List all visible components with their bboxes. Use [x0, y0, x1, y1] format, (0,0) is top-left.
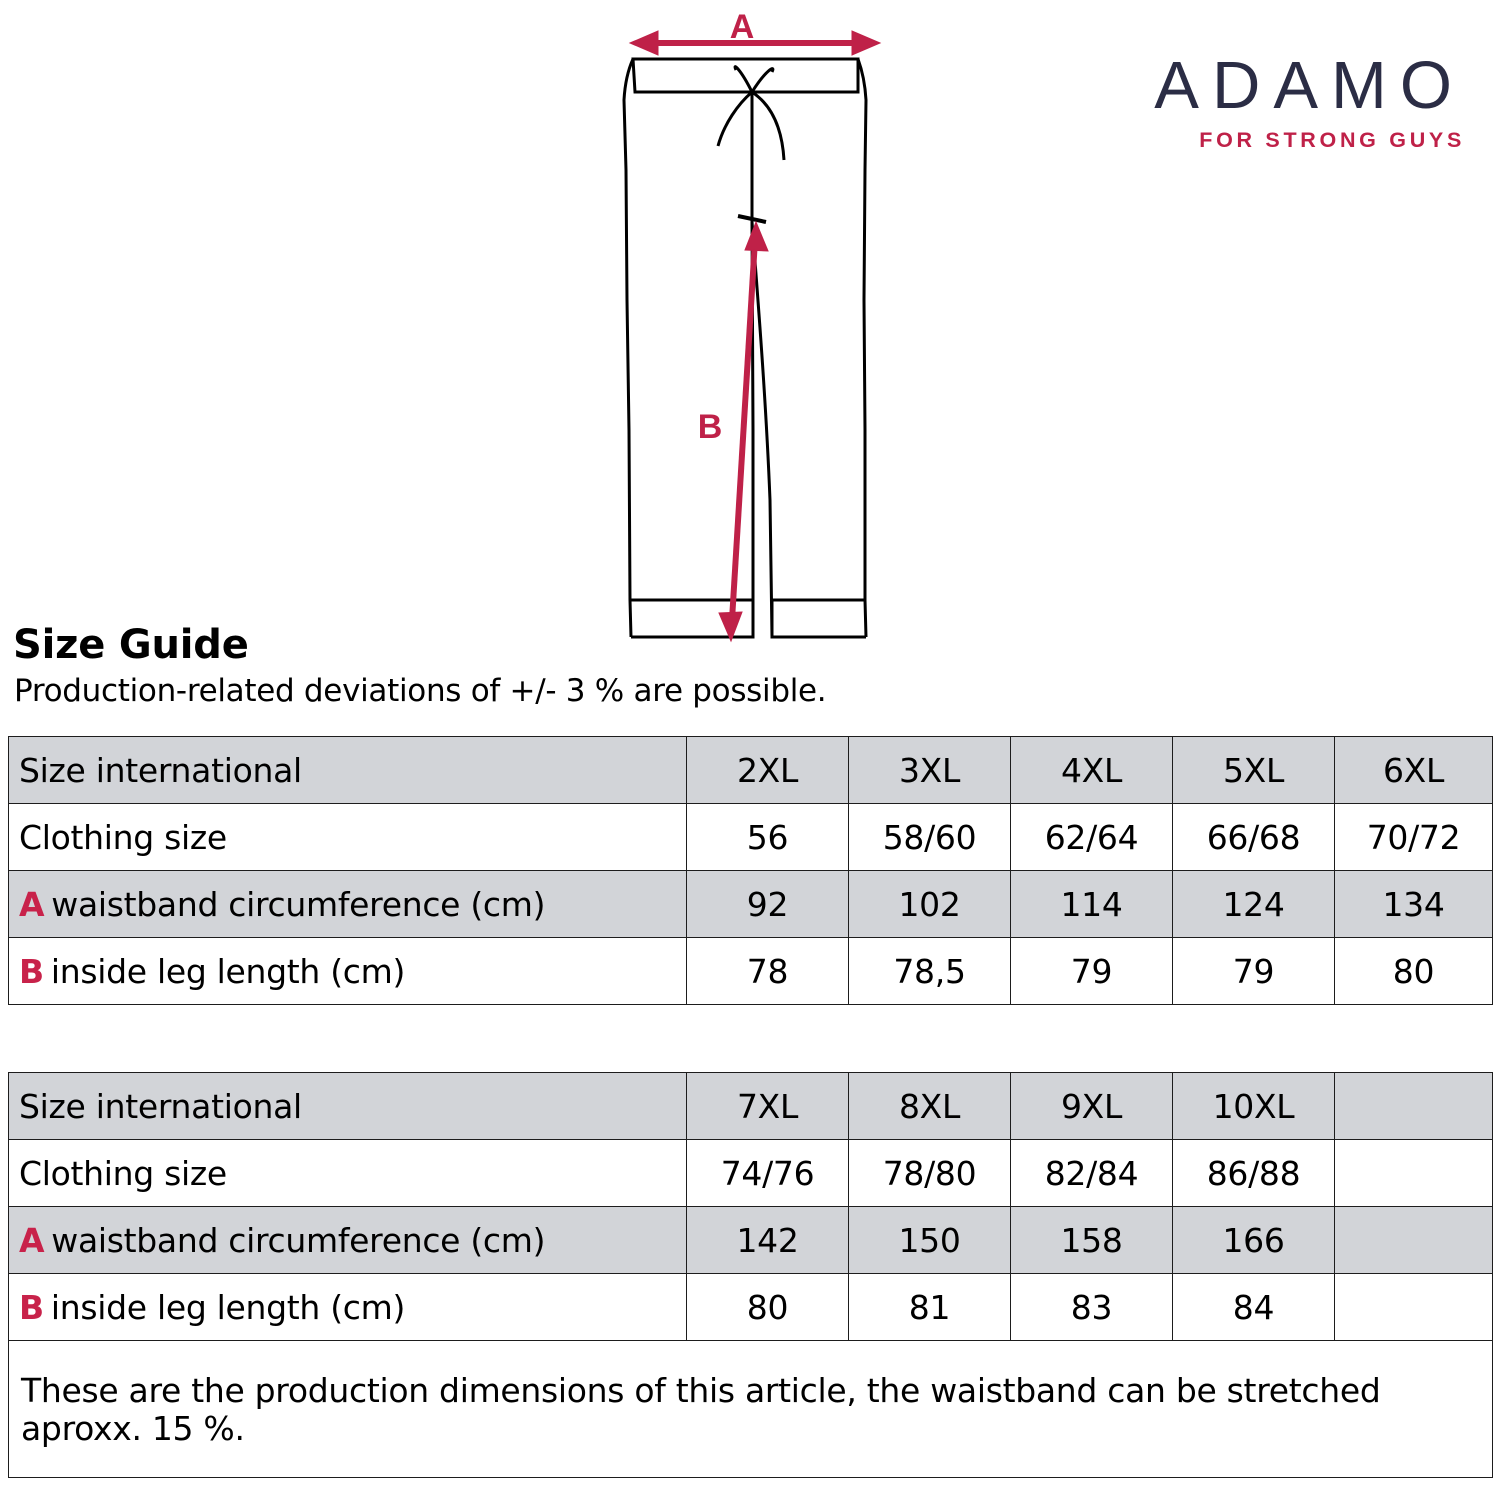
cell-value: 150 — [849, 1207, 1011, 1274]
row-label-clothing-size: Clothing size — [9, 1140, 687, 1207]
table-row-footnote: These are the production dimensions of t… — [9, 1341, 1493, 1478]
row-label-text: inside leg length (cm) — [51, 1288, 405, 1327]
row-label-text: Size international — [19, 751, 302, 790]
brand-tagline: FOR STRONG GUYS — [1085, 128, 1465, 153]
row-label-text: waistband circumference (cm) — [51, 885, 545, 924]
production-note-text: These are the production dimensions of t… — [21, 1366, 1480, 1447]
table-row: Size international 2XL 3XL 4XL 5XL 6XL — [9, 737, 1493, 804]
table-row: Awaistband circumference (cm) 142 150 15… — [9, 1207, 1493, 1274]
row-label-inside-leg-length: Binside leg length (cm) — [9, 1274, 687, 1341]
cell-empty — [1335, 1274, 1493, 1341]
cell-value: 86/88 — [1173, 1140, 1335, 1207]
cell-empty — [1335, 1073, 1493, 1140]
cell-value: 62/64 — [1011, 804, 1173, 871]
cell-value: 142 — [687, 1207, 849, 1274]
dimension-tag-b: B — [19, 1288, 44, 1327]
cell-value: 80 — [1335, 938, 1493, 1005]
pants-technical-drawing: A B — [600, 0, 920, 670]
production-note: These are the production dimensions of t… — [9, 1341, 1493, 1478]
cell-value: 102 — [849, 871, 1011, 938]
row-label-text: Size international — [19, 1087, 302, 1126]
cell-value: 78/80 — [849, 1140, 1011, 1207]
cell-value: 74/76 — [687, 1140, 849, 1207]
cell-value: 7XL — [687, 1073, 849, 1140]
cell-value: 10XL — [1173, 1073, 1335, 1140]
size-table-primary: Size international 2XL 3XL 4XL 5XL 6XL C… — [8, 736, 1493, 1005]
brand-wordmark: ADAMO — [1085, 52, 1465, 119]
cell-value: 66/68 — [1173, 804, 1335, 871]
row-label-clothing-size: Clothing size — [9, 804, 687, 871]
cell-value: 8XL — [849, 1073, 1011, 1140]
deviation-note: Production-related deviations of +/- 3 %… — [14, 673, 826, 709]
row-label-text: inside leg length (cm) — [51, 952, 405, 991]
size-table-secondary: Size international 7XL 8XL 9XL 10XL Clot… — [8, 1072, 1493, 1478]
page-title: Size Guide — [13, 622, 249, 668]
cell-empty — [1335, 1140, 1493, 1207]
pants-outline — [624, 59, 866, 637]
cell-value: 5XL — [1173, 737, 1335, 804]
table-row: Binside leg length (cm) 80 81 83 84 — [9, 1274, 1493, 1341]
cell-value: 79 — [1011, 938, 1173, 1005]
dimension-arrow-b — [719, 222, 768, 641]
row-label-inside-leg-length: Binside leg length (cm) — [9, 938, 687, 1005]
drawstring-bow — [718, 67, 784, 222]
row-label-waistband-circumference: Awaistband circumference (cm) — [9, 871, 687, 938]
cell-value: 158 — [1011, 1207, 1173, 1274]
cell-value: 58/60 — [849, 804, 1011, 871]
dimension-label-b: B — [698, 408, 723, 446]
dimension-tag-b: B — [19, 952, 44, 991]
row-label-text: Clothing size — [19, 818, 227, 857]
cell-value: 134 — [1335, 871, 1493, 938]
table-row: Clothing size 74/76 78/80 82/84 86/88 — [9, 1140, 1493, 1207]
cell-value: 82/84 — [1011, 1140, 1173, 1207]
cell-value: 80 — [687, 1274, 849, 1341]
cell-value: 3XL — [849, 737, 1011, 804]
row-label-waistband-circumference: Awaistband circumference (cm) — [9, 1207, 687, 1274]
cell-value: 83 — [1011, 1274, 1173, 1341]
row-label-text: waistband circumference (cm) — [51, 1221, 545, 1260]
row-label-size-international: Size international — [9, 737, 687, 804]
cell-value: 84 — [1173, 1274, 1335, 1341]
cell-value: 9XL — [1011, 1073, 1173, 1140]
table-row: Binside leg length (cm) 78 78,5 79 79 80 — [9, 938, 1493, 1005]
dimension-label-a: A — [730, 8, 755, 46]
cell-value: 114 — [1011, 871, 1173, 938]
cell-value: 92 — [687, 871, 849, 938]
row-label-text: Clothing size — [19, 1154, 227, 1193]
cell-value: 2XL — [687, 737, 849, 804]
cell-value: 78 — [687, 938, 849, 1005]
table-row: Awaistband circumference (cm) 92 102 114… — [9, 871, 1493, 938]
dimension-tag-a: A — [19, 885, 44, 924]
dimension-arrow-a — [630, 31, 880, 55]
cell-value: 78,5 — [849, 938, 1011, 1005]
cell-empty — [1335, 1207, 1493, 1274]
cell-value: 81 — [849, 1274, 1011, 1341]
table-row: Clothing size 56 58/60 62/64 66/68 70/72 — [9, 804, 1493, 871]
cell-value: 6XL — [1335, 737, 1493, 804]
cell-value: 4XL — [1011, 737, 1173, 804]
cell-value: 79 — [1173, 938, 1335, 1005]
brand-logo: ADAMO FOR STRONG GUYS — [1085, 52, 1465, 153]
cell-value: 124 — [1173, 871, 1335, 938]
cell-value: 56 — [687, 804, 849, 871]
dimension-tag-a: A — [19, 1221, 44, 1260]
cell-value: 166 — [1173, 1207, 1335, 1274]
cell-value: 70/72 — [1335, 804, 1493, 871]
row-label-size-international: Size international — [9, 1073, 687, 1140]
table-row: Size international 7XL 8XL 9XL 10XL — [9, 1073, 1493, 1140]
